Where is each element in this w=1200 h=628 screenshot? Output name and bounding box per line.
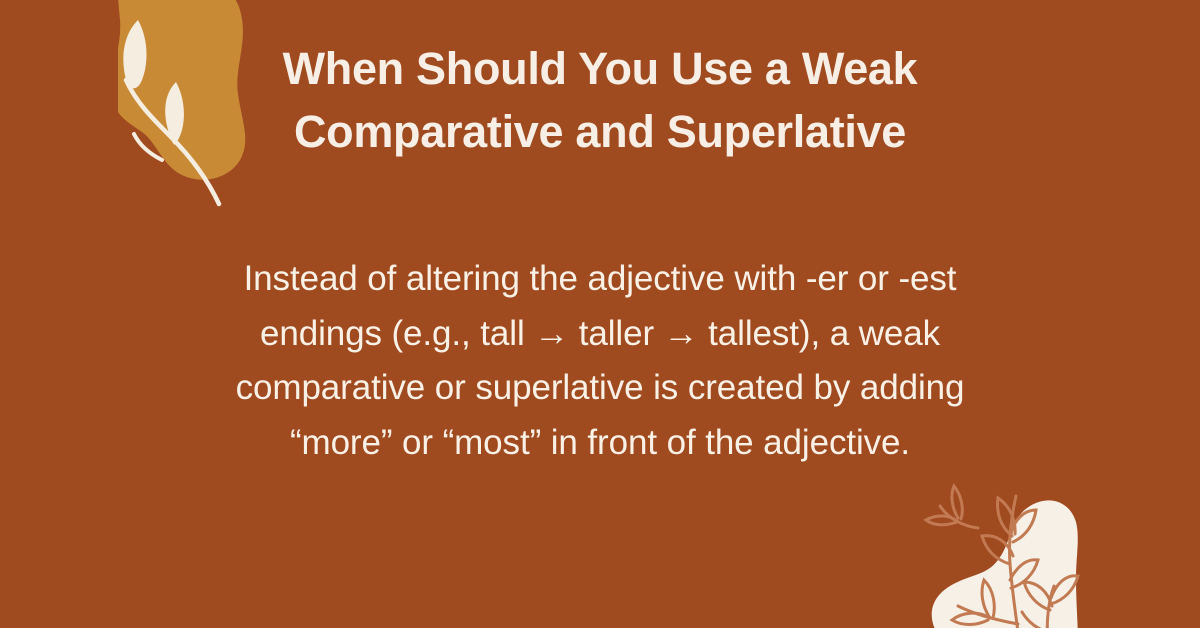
body-line-4: “more” or “most” in front of the adjecti… xyxy=(135,416,1065,471)
title-line-1: When Should You Use a Weak xyxy=(210,37,990,100)
text-content: When Should You Use a Weak Comparative a… xyxy=(0,0,1200,628)
body-line-1: Instead of altering the adjective with -… xyxy=(135,252,1065,307)
body-line-2: endings (e.g., tall → taller → tallest),… xyxy=(135,307,1065,362)
infographic-canvas: When Should You Use a Weak Comparative a… xyxy=(0,0,1200,628)
page-title: When Should You Use a Weak Comparative a… xyxy=(210,37,990,163)
title-line-2: Comparative and Superlative xyxy=(210,100,990,163)
body-paragraph: Instead of altering the adjective with -… xyxy=(135,252,1065,470)
body-line-3: comparative or superlative is created by… xyxy=(135,361,1065,416)
